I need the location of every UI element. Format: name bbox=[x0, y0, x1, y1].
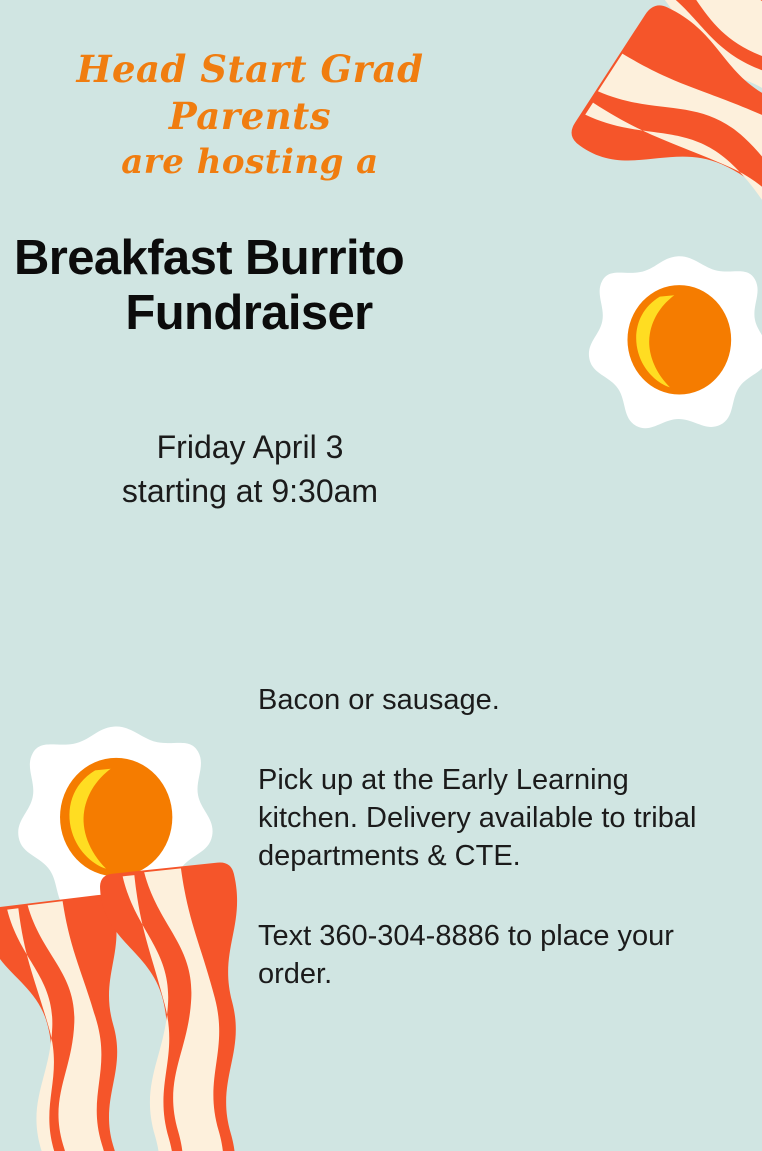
event-time: starting at 9:30am bbox=[30, 469, 470, 513]
flyer-canvas: .bacon-meat { fill: #f5552a; } .bacon-fa… bbox=[0, 0, 762, 1151]
page-title: Breakfast Burrito Fundraiser bbox=[14, 234, 484, 338]
hosted-by-line-2: are hosting a bbox=[20, 141, 480, 185]
detail-menu-options: Bacon or sausage. bbox=[258, 682, 710, 720]
text-content-layer: Head Start Grad Parents are hosting a Br… bbox=[0, 0, 762, 1151]
page-title-line-2: Fundraiser bbox=[14, 289, 484, 338]
order-details: Bacon or sausage. Pick up at the Early L… bbox=[258, 682, 710, 994]
hosted-by-heading: Head Start Grad Parents are hosting a bbox=[20, 46, 480, 184]
detail-order-instructions: Text 360-304-8886 to place your order. bbox=[258, 918, 710, 994]
detail-spacer-1 bbox=[258, 720, 710, 762]
page-title-line-1: Breakfast Burrito bbox=[14, 234, 484, 283]
event-datetime: Friday April 3 starting at 9:30am bbox=[30, 425, 470, 513]
detail-pickup-delivery: Pick up at the Early Learning kitchen. D… bbox=[258, 762, 710, 876]
event-date: Friday April 3 bbox=[30, 425, 470, 469]
hosted-by-line-1: Head Start Grad Parents bbox=[77, 47, 424, 138]
detail-spacer-2 bbox=[258, 876, 710, 918]
